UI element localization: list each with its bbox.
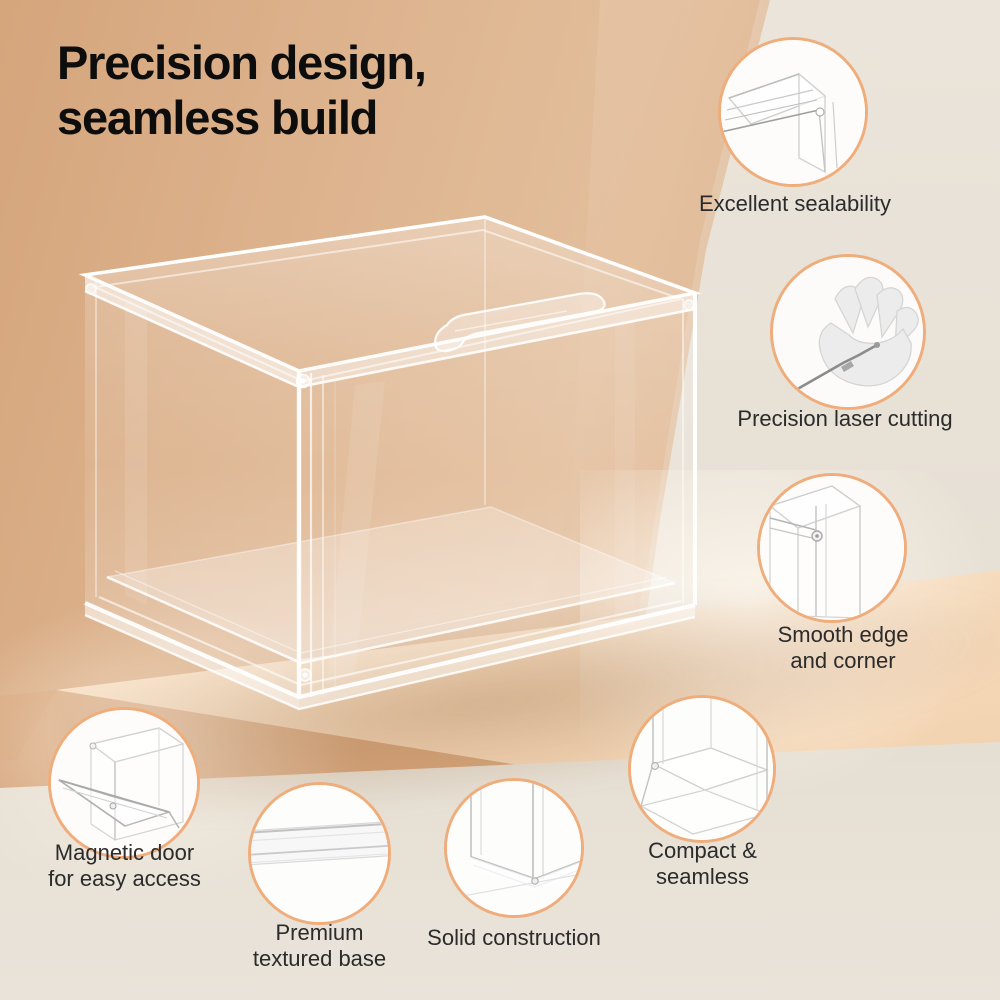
magnetic-open-door-icon [48, 707, 200, 859]
headline-line-1: Precision design, [57, 36, 426, 89]
callout-label-excellent-sealability: Excellent sealability [660, 191, 930, 217]
callout-label-magnetic-door-for-easy-access: Magnetic door for easy access [22, 840, 227, 891]
headline-line-2: seamless build [57, 91, 677, 146]
gloved-hand-laser-cut-icon [770, 254, 926, 410]
acrylic-vertical-joint-icon [444, 778, 584, 918]
callout-label-precision-laser-cutting: Precision laser cutting [700, 406, 990, 432]
acrylic-smooth-corner-icon [757, 473, 907, 623]
product-image-acrylic-display-case [55, 205, 715, 725]
callout-label-smooth-edge-and-corner: Smooth edge and corner [718, 622, 968, 673]
acrylic-corner-seal-icon [718, 37, 868, 187]
callout-label-solid-construction: Solid construction [394, 925, 634, 951]
callout-label-premium-textured-base: Premium textured base [232, 920, 407, 971]
acrylic-inner-base-icon [628, 695, 776, 843]
textured-base-strip-icon [248, 782, 391, 925]
page-headline: Precision design, seamless build [57, 36, 677, 145]
callout-label-compact-and-seamless: Compact & seamless [590, 838, 815, 889]
marketing-banner: Precision design, seamless build Excelle… [0, 0, 1000, 1000]
